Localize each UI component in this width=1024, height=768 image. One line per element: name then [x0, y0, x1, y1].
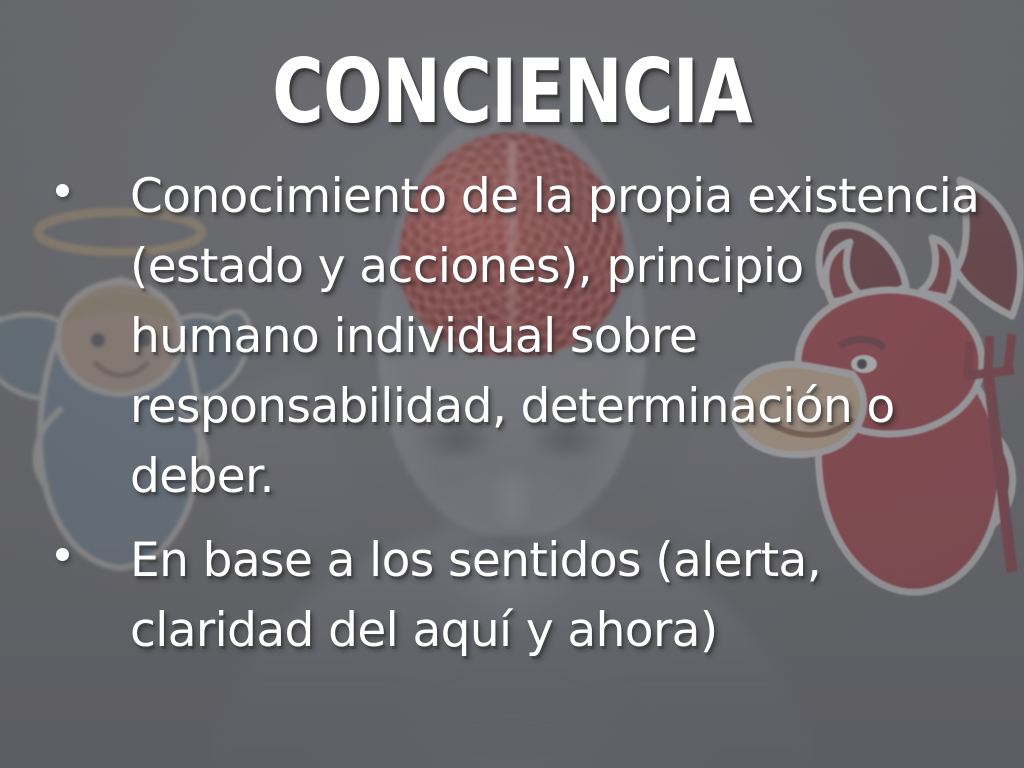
bullet-item-2: En base a los sentidos (alerta, claridad…: [56, 526, 988, 666]
bullet-item-1: Conocimiento de la propia existencia (es…: [56, 162, 988, 512]
presentation-slide: CONCIENCIA Conocimiento de la propia exi…: [0, 0, 1024, 768]
bullet-marker-icon: [56, 184, 69, 197]
bullet-text-1: Conocimiento de la propia existencia (es…: [130, 162, 988, 512]
bullet-text-2: En base a los sentidos (alerta, claridad…: [130, 526, 988, 666]
bullet-list: Conocimiento de la propia existencia (es…: [56, 162, 988, 674]
bullet-marker-icon: [56, 548, 69, 561]
slide-content: CONCIENCIA Conocimiento de la propia exi…: [0, 0, 1024, 768]
slide-title: CONCIENCIA: [102, 48, 921, 136]
